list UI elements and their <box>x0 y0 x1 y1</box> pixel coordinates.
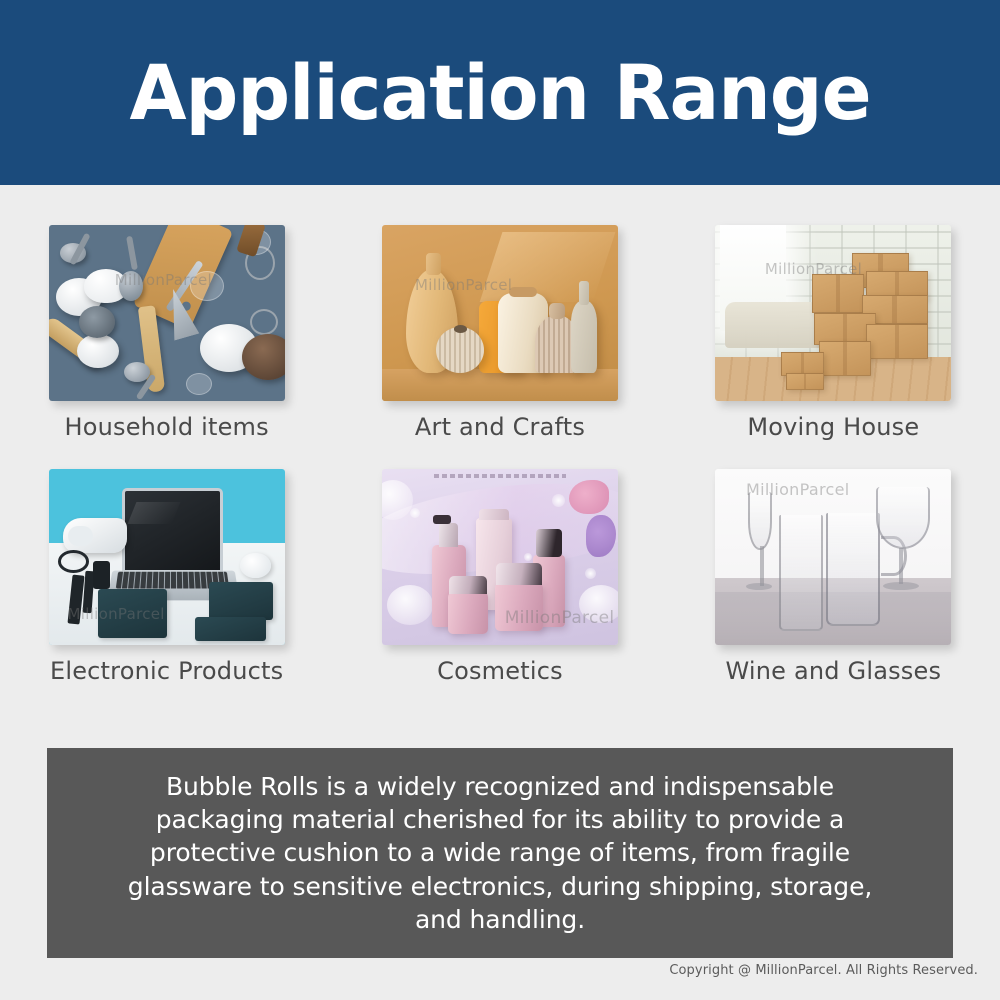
sparkle <box>585 568 596 579</box>
cardboard-box-icon <box>866 324 927 359</box>
category-card-electronic-products[interactable]: MillionParcel Electronic Products <box>17 469 317 685</box>
slim-bottle-vase-icon <box>571 301 597 373</box>
sparkle <box>410 508 420 518</box>
header-banner: Application Range <box>0 0 1000 185</box>
cardboard-box-icon <box>786 373 824 391</box>
moving-house-illustration <box>715 225 951 401</box>
table-surface <box>382 369 618 401</box>
cream-jar-icon <box>495 583 543 631</box>
category-grid: MillionParcel Household items MillionPar… <box>0 185 1000 685</box>
strainer-icon <box>79 306 115 338</box>
pan-icon <box>242 334 285 380</box>
champagne-flute-icon <box>748 492 772 550</box>
flower-bloom <box>387 585 433 625</box>
purple-petal <box>586 515 616 557</box>
description-text: Bubble Rolls is a widely recognized and … <box>111 770 889 936</box>
tablet-icon <box>98 589 166 638</box>
sunlight-patch <box>479 232 615 302</box>
utensil-handle <box>126 235 138 270</box>
glass-icon <box>186 373 212 395</box>
champagne-flute-foot <box>746 583 772 590</box>
cable-coil-icon <box>58 550 89 573</box>
category-image-moving-house: MillionParcel <box>715 225 951 401</box>
cosmetics-illustration <box>382 469 618 645</box>
decorative-caption-line <box>434 474 566 478</box>
category-label-moving-house: Moving House <box>747 413 919 441</box>
beer-mug-icon <box>826 513 880 626</box>
category-label-cosmetics: Cosmetics <box>437 657 563 685</box>
description-box: Bubble Rolls is a widely recognized and … <box>47 748 953 958</box>
cardboard-box-icon <box>819 341 871 376</box>
cardboard-box-icon <box>812 274 864 313</box>
category-label-electronic-products: Electronic Products <box>50 657 283 685</box>
wine-and-glasses-illustration <box>715 469 951 645</box>
flower-bloom <box>579 585 618 623</box>
category-card-moving-house[interactable]: MillionParcel Moving House <box>683 225 983 441</box>
copyright-footer: Copyright @ MillionParcel. All Rights Re… <box>669 963 978 978</box>
category-card-wine-and-glasses[interactable]: MillionParcel Wine and Glasses <box>683 469 983 685</box>
electronic-products-illustration <box>49 469 285 645</box>
vr-headset-icon <box>63 518 127 553</box>
whisk-icon <box>250 309 278 335</box>
bowl-icon <box>77 334 119 368</box>
category-image-cosmetics: MillionParcel <box>382 469 618 645</box>
category-card-art-and-crafts[interactable]: MillionParcel Art and Crafts <box>350 225 650 441</box>
wine-glass-stem <box>899 548 903 584</box>
tablet-icon <box>195 617 266 642</box>
category-card-cosmetics[interactable]: MillionParcel Cosmetics <box>350 469 650 685</box>
laptop-screen-icon <box>122 488 223 572</box>
smartwatch-icon <box>93 561 110 589</box>
wine-glass-foot <box>883 582 919 590</box>
tumbler-glass-icon <box>779 515 823 631</box>
category-image-electronic-products: MillionParcel <box>49 469 285 645</box>
category-image-art-and-crafts: MillionParcel <box>382 225 618 401</box>
wine-glass-icon <box>876 487 930 549</box>
category-image-wine-and-glasses: MillionParcel <box>715 469 951 645</box>
category-card-household-items[interactable]: MillionParcel Household items <box>17 225 317 441</box>
category-label-household-items: Household items <box>64 413 268 441</box>
tablet-icon <box>209 582 273 621</box>
earbuds-icon <box>240 553 271 578</box>
sparkle <box>552 494 565 507</box>
category-image-household-items: MillionParcel <box>49 225 285 401</box>
pink-petal <box>569 480 609 514</box>
cream-jar-icon <box>448 592 488 634</box>
champagne-flute-stem <box>760 546 764 586</box>
art-and-crafts-illustration <box>382 225 618 401</box>
ribbed-round-vase-icon <box>436 327 484 373</box>
household-items-illustration <box>49 225 285 401</box>
category-label-art-and-crafts: Art and Crafts <box>415 413 585 441</box>
page-title: Application Range <box>129 55 870 131</box>
category-label-wine-and-glasses: Wine and Glasses <box>725 657 941 685</box>
